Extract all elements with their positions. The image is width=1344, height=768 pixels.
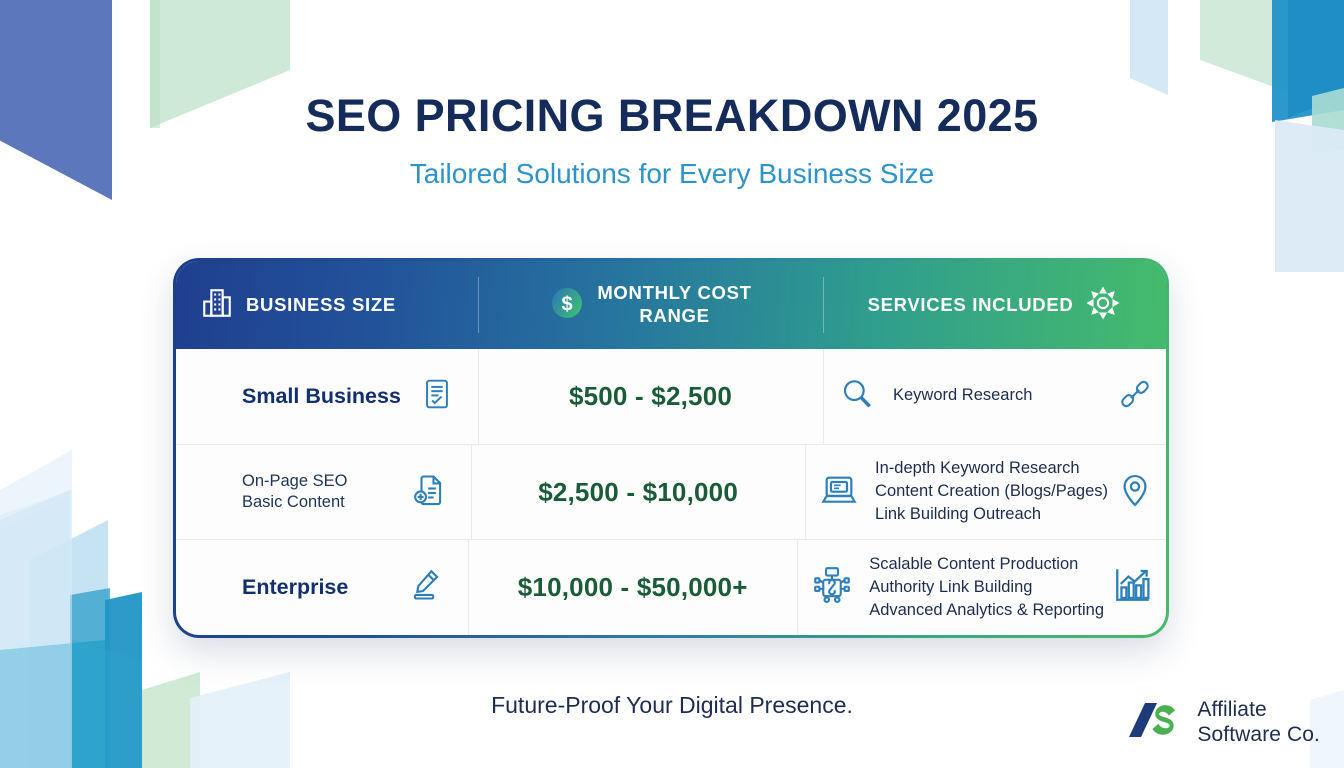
svg-text:$: $ — [562, 293, 573, 315]
service-item: In-depth Keyword Research — [875, 458, 1108, 480]
column-header-monthly-cost-label: MONTHLY COST RANGE — [597, 282, 751, 327]
column-header-services-included: SERVICES INCLUDED — [823, 261, 1166, 349]
cell-monthly-cost: $500 - $2,500 — [478, 349, 823, 444]
table-body: Small Business $500 - $2, — [176, 349, 1166, 635]
services-list: Keyword Research — [885, 385, 1108, 407]
building-icon — [200, 286, 234, 325]
brand-logo-text: Affiliate Software Co. — [1197, 698, 1320, 747]
business-size-text: On-Page SEO Basic Content — [242, 471, 347, 513]
checklist-document-icon — [420, 377, 454, 416]
cell-services-included: Scalable Content Production Authority Li… — [797, 540, 1166, 635]
column-header-business-size-label: BUSINESS SIZE — [246, 294, 396, 317]
table-header-row: BUSINESS SIZE $ — [176, 261, 1166, 349]
gear-icon — [1085, 285, 1121, 326]
map-pin-icon — [1116, 471, 1154, 514]
table-row: Enterprise $10,000 - $50,000+ — [176, 539, 1166, 635]
magnifier-icon — [837, 374, 877, 419]
document-plus-icon — [411, 472, 447, 513]
service-item: Link Building Outreach — [875, 504, 1108, 526]
table-row: On-Page SEO Basic Content — [176, 444, 1166, 540]
business-size-label: Enterprise — [242, 574, 348, 601]
brand-logo: Affiliate Software Co. — [1123, 697, 1320, 748]
cell-monthly-cost: $10,000 - $50,000+ — [468, 540, 797, 635]
page-heading: SEO PRICING BREAKDOWN 2025 Tailored Solu… — [0, 92, 1344, 190]
service-item: Keyword Research — [893, 385, 1108, 407]
pen-stamp-icon — [408, 567, 444, 608]
column-header-services-included-label: SERVICES INCLUDED — [868, 294, 1074, 317]
column-header-business-size: BUSINESS SIZE — [176, 261, 478, 349]
column-header-monthly-cost: $ MONTHLY COST RANGE — [478, 261, 823, 349]
brand-name-line2: Software Co. — [1197, 723, 1320, 746]
monthly-cost-line2: RANGE — [639, 305, 709, 326]
network-node-icon — [811, 564, 853, 611]
cell-business-size: On-Page SEO Basic Content — [176, 445, 471, 540]
cell-business-size: Enterprise — [176, 540, 468, 635]
services-list: Scalable Content Production Authority Li… — [861, 554, 1104, 622]
brand-name-line1: Affiliate — [1197, 698, 1266, 721]
business-size-label-line2: Basic Content — [242, 493, 345, 511]
service-item: Advanced Analytics & Reporting — [869, 600, 1104, 622]
cell-business-size: Small Business — [176, 349, 478, 444]
table-row: Small Business $500 - $2, — [176, 349, 1166, 444]
bar-chart-growth-icon — [1112, 564, 1154, 611]
dollar-coin-icon: $ — [549, 285, 585, 326]
page-title: SEO PRICING BREAKDOWN 2025 — [0, 92, 1344, 141]
page-subtitle: Tailored Solutions for Every Business Si… — [0, 158, 1344, 190]
service-item: Scalable Content Production — [869, 554, 1104, 576]
service-item: Authority Link Building — [869, 577, 1104, 599]
cost-range-label: $500 - $2,500 — [569, 381, 732, 412]
pricing-table-card: BUSINESS SIZE $ — [173, 258, 1169, 638]
services-list: In-depth Keyword Research Content Creati… — [867, 458, 1108, 526]
business-size-label: Small Business — [242, 383, 401, 410]
service-item: Content Creation (Blogs/Pages) — [875, 481, 1108, 503]
monthly-cost-line1: MONTHLY COST — [597, 282, 751, 303]
cell-monthly-cost: $2,500 - $10,000 — [471, 445, 805, 540]
cell-services-included: Keyword Research — [823, 349, 1166, 444]
laptop-content-icon — [819, 470, 859, 515]
link-chain-icon — [1116, 375, 1154, 418]
cost-range-label: $10,000 - $50,000+ — [518, 572, 748, 603]
cell-services-included: In-depth Keyword Research Content Creati… — [805, 445, 1166, 540]
slash-s-monogram-icon — [1123, 697, 1185, 748]
cost-range-label: $2,500 - $10,000 — [538, 477, 738, 508]
business-size-label: On-Page SEO — [242, 472, 347, 490]
